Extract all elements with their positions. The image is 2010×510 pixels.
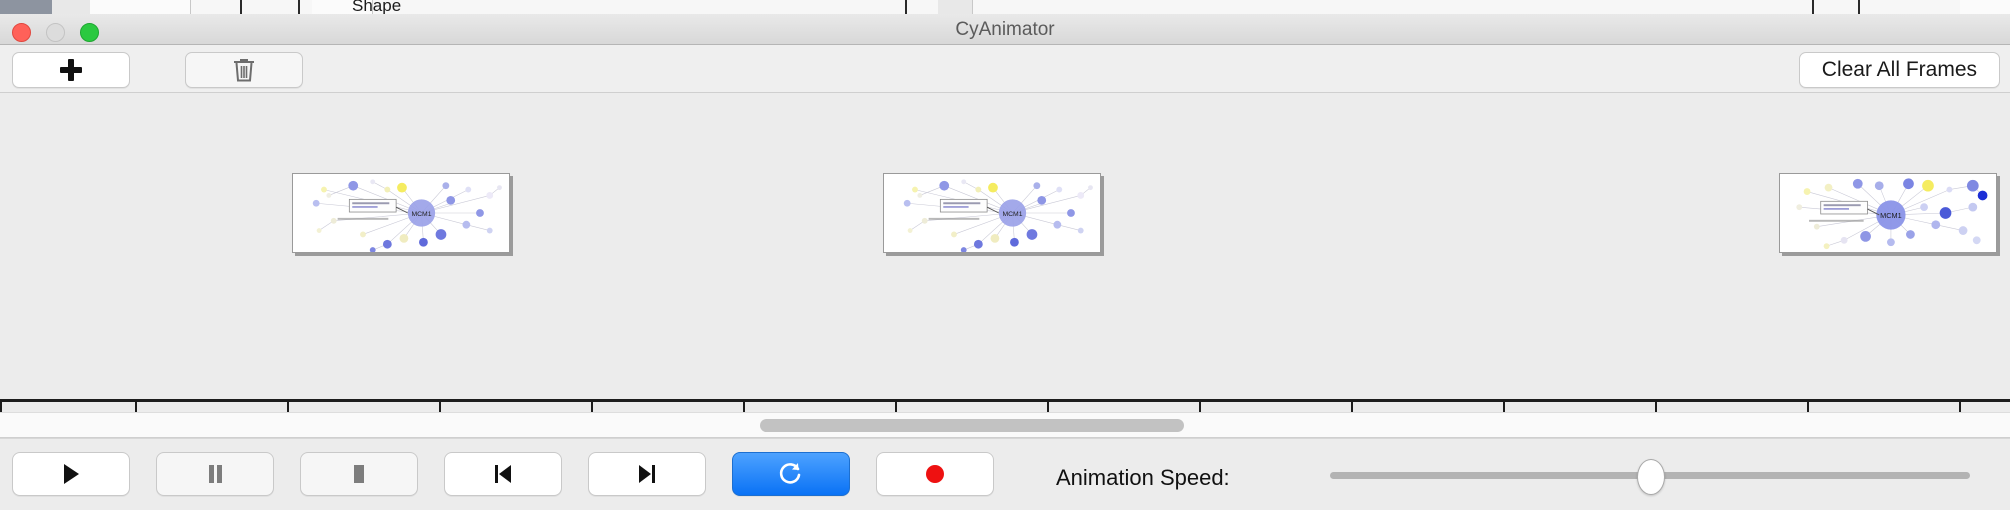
pause-button[interactable] — [156, 452, 274, 496]
network-thumbnail-image: MCM1 — [1780, 174, 1996, 252]
timeline-scrollbar[interactable] — [0, 412, 2010, 438]
bg-tick — [298, 0, 300, 14]
ruler-baseline — [0, 399, 2010, 402]
stop-button[interactable] — [300, 452, 418, 496]
svg-text:MCM1: MCM1 — [1002, 211, 1022, 218]
scrollbar-thumb[interactable] — [760, 419, 1184, 432]
bg-tick — [905, 0, 907, 14]
ruler-tick-major — [287, 402, 289, 412]
keyframe-thumbnail[interactable]: MCM1 — [292, 173, 510, 253]
play-icon — [58, 461, 84, 487]
animation-speed-label: Animation Speed: — [1056, 465, 1230, 491]
record-button[interactable] — [876, 452, 994, 496]
plus-icon — [60, 59, 82, 81]
bg-chip — [1960, 0, 2010, 14]
ruler-tick-major — [1503, 402, 1505, 412]
playback-control-bar: Animation Speed: — [0, 438, 2010, 510]
keyframe-thumbnail[interactable]: MCM1 — [883, 173, 1101, 253]
play-button[interactable] — [12, 452, 130, 496]
background-window-label: Shape — [352, 0, 401, 15]
record-icon — [922, 461, 948, 487]
title-bar: CyAnimator — [0, 14, 2010, 45]
svg-text:MCM1: MCM1 — [411, 211, 431, 218]
cyanimator-window: Shape CyAnimator Clear All Frames — [0, 0, 2010, 510]
stop-icon — [346, 461, 372, 487]
ruler-tick-major — [0, 402, 2, 412]
ruler-tick-major — [1199, 402, 1201, 412]
keyframe-thumbnail[interactable]: MCM1 — [1779, 173, 1997, 253]
skip-back-icon — [490, 461, 516, 487]
clear-all-frames-button[interactable]: Clear All Frames — [1799, 52, 2000, 88]
pause-icon — [202, 461, 228, 487]
bg-tick — [240, 0, 242, 14]
skip-forward-icon — [634, 461, 660, 487]
add-frame-button[interactable] — [12, 52, 130, 88]
skip-start-button[interactable] — [444, 452, 562, 496]
ruler-tick-major — [1807, 402, 1809, 412]
bg-chip — [0, 0, 53, 14]
network-thumbnail-image: MCM1 — [884, 174, 1100, 252]
delete-frame-button[interactable] — [185, 52, 303, 88]
network-thumbnail-image: MCM1 — [293, 174, 509, 252]
timeline-panel[interactable]: MCM1 — [0, 93, 2010, 412]
svg-text:MCM1: MCM1 — [1880, 211, 1902, 220]
ruler-tick-minor — [1351, 402, 1353, 412]
ruler-tick-minor — [1959, 402, 1961, 412]
ruler-tick-minor — [439, 402, 441, 412]
ruler-tick-major — [591, 402, 593, 412]
timeline-ruler[interactable]: 2 13 14 15 16 17 18 Seconds — [0, 399, 2010, 412]
animation-speed-slider-thumb[interactable] — [1637, 459, 1665, 495]
bg-tick — [1812, 0, 1814, 14]
bg-chip — [90, 0, 191, 14]
ruler-tick-minor — [1655, 402, 1657, 412]
skip-end-button[interactable] — [588, 452, 706, 496]
trash-icon — [232, 57, 256, 83]
window-title: CyAnimator — [0, 19, 2010, 41]
loop-button[interactable] — [732, 452, 850, 496]
bg-chip — [938, 0, 973, 14]
loop-icon — [777, 460, 805, 488]
ruler-tick-minor — [135, 402, 137, 412]
ruler-tick-minor — [1047, 402, 1049, 412]
bg-tick — [1858, 0, 1860, 14]
background-window-strip: Shape — [0, 0, 2010, 15]
ruler-tick-major — [895, 402, 897, 412]
ruler-tick-minor — [743, 402, 745, 412]
toolbar: Clear All Frames — [0, 45, 2010, 93]
bg-chip — [52, 0, 91, 14]
